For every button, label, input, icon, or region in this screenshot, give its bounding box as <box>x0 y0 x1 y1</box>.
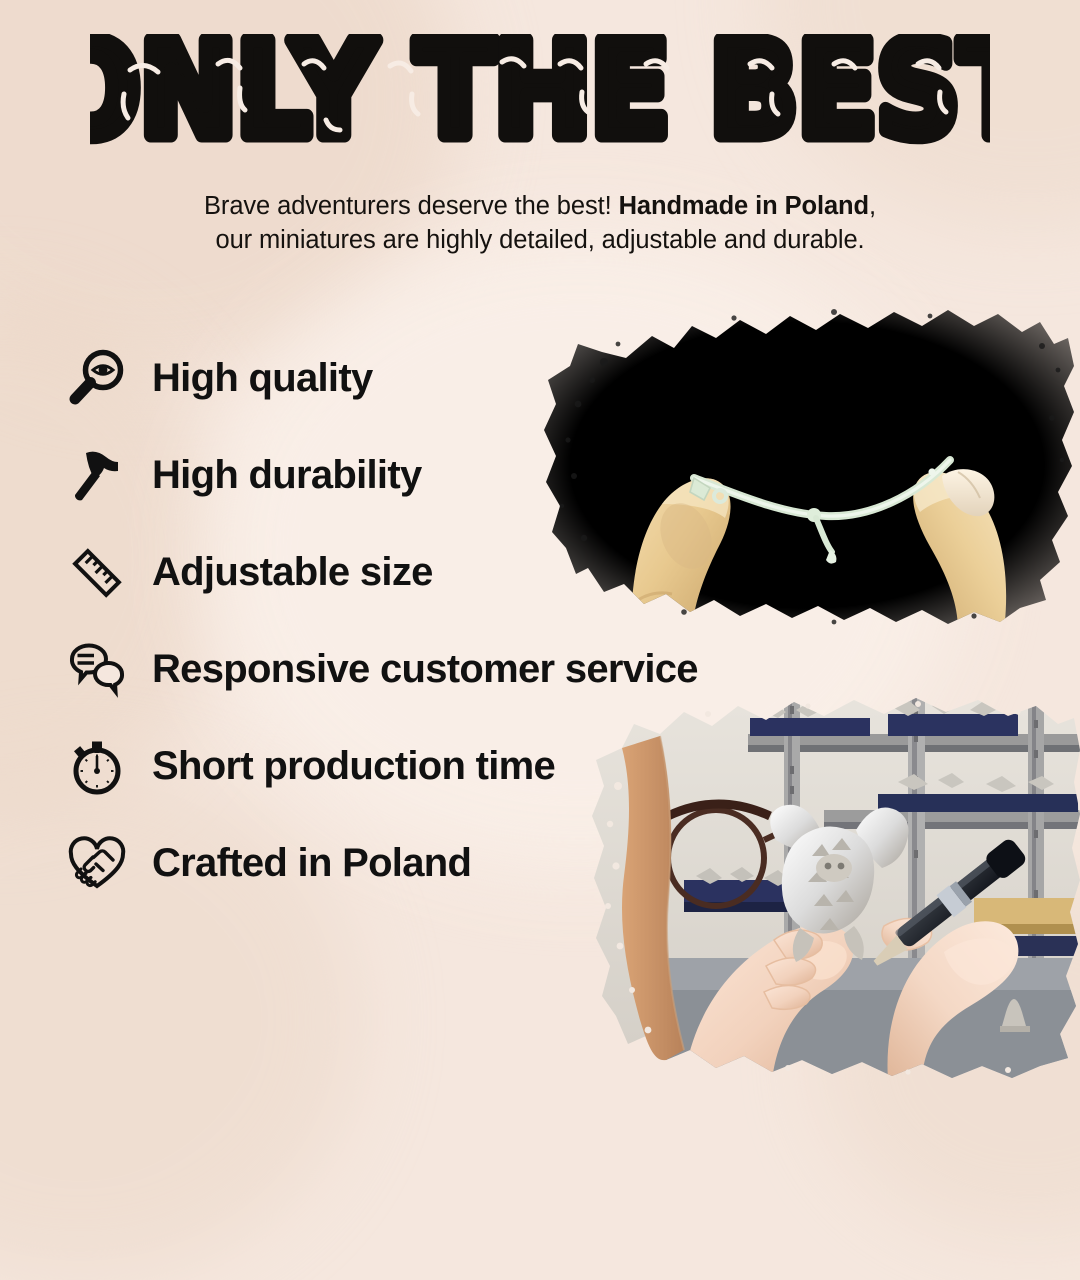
subtitle-lead: Brave adventurers deserve the best! <box>204 192 619 220</box>
feature-row-crafted-in-poland: Crafted in Poland <box>64 815 698 912</box>
feature-list: High quality High durability <box>64 330 698 912</box>
feature-row-high-durability: High durability <box>64 427 698 524</box>
subtitle-line-1: Brave adventurers deserve the best! Hand… <box>204 192 876 220</box>
subtitle-highlight: Handmade in Poland <box>619 192 869 220</box>
hammer-icon <box>64 445 130 507</box>
feature-label: Responsive customer service <box>152 647 698 692</box>
handshake-heart-icon <box>64 833 130 895</box>
speech-bubbles-icon <box>64 639 130 701</box>
feature-label: High durability <box>152 453 422 498</box>
feature-label: Short production time <box>152 744 555 789</box>
feature-row-responsive-customer-service: Responsive customer service <box>64 621 698 718</box>
subtitle-tail: , <box>869 192 876 220</box>
feature-row-adjustable-size: Adjustable size <box>64 524 698 621</box>
title-artwork: ONLY THE BEST <box>90 34 990 162</box>
feature-row-high-quality: High quality <box>64 330 698 427</box>
feature-row-short-production-time: Short production time <box>64 718 698 815</box>
stopwatch-icon <box>64 736 130 798</box>
feature-label: Crafted in Poland <box>152 841 471 886</box>
subtitle-line-2: our miniatures are highly detailed, adju… <box>215 226 864 254</box>
magnifier-eye-icon <box>64 348 130 410</box>
feature-label: Adjustable size <box>152 550 433 595</box>
subtitle: Brave adventurers deserve the best! Hand… <box>60 190 1020 258</box>
page-title: ONLY THE BEST <box>0 34 1080 162</box>
feature-label: High quality <box>152 356 373 401</box>
ruler-icon <box>64 542 130 604</box>
title-letters: ONLY THE BEST <box>90 34 990 162</box>
